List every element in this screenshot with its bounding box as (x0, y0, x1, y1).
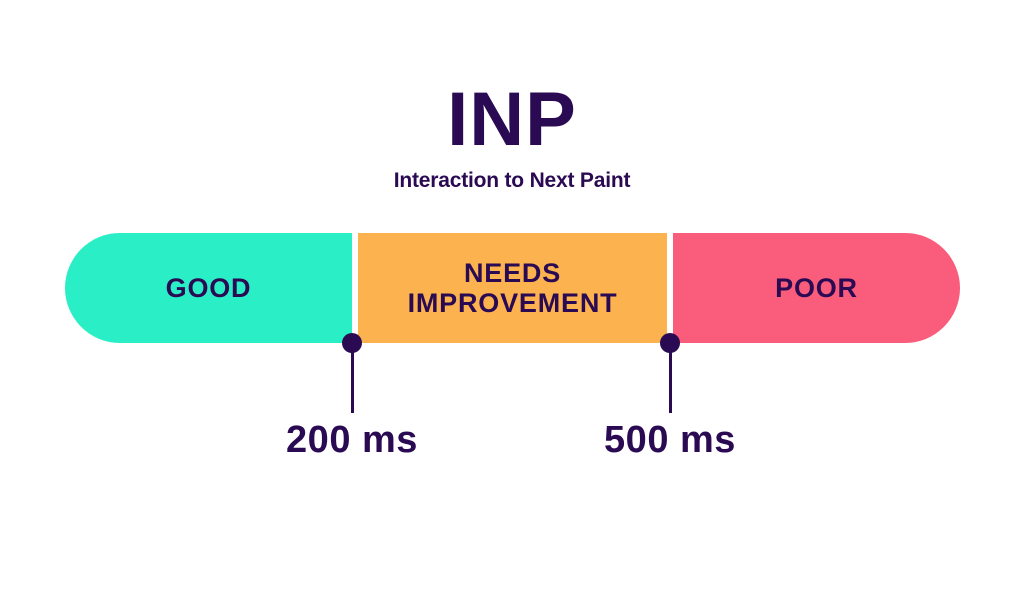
inp-threshold-infographic: INP Interaction to Next Paint GOOD NEEDS… (0, 0, 1024, 598)
bar-segment-poor: POOR (673, 233, 960, 343)
bar-segment-needs-improvement-label: NEEDS IMPROVEMENT (408, 258, 618, 318)
bar-segment-poor-label: POOR (775, 273, 858, 303)
bar-segment-good: GOOD (65, 233, 352, 343)
page-subtitle: Interaction to Next Paint (0, 170, 1024, 191)
threshold-stem (351, 343, 354, 413)
bar-segment-needs-improvement: NEEDS IMPROVEMENT (358, 233, 667, 343)
threshold-stem (669, 343, 672, 413)
page-title: INP (0, 82, 1024, 158)
threshold-bar: GOOD NEEDS IMPROVEMENT POOR (65, 233, 960, 343)
threshold-label-200: 200 ms (202, 421, 502, 459)
threshold-label-500: 500 ms (520, 421, 820, 459)
bar-segment-good-label: GOOD (166, 273, 252, 303)
